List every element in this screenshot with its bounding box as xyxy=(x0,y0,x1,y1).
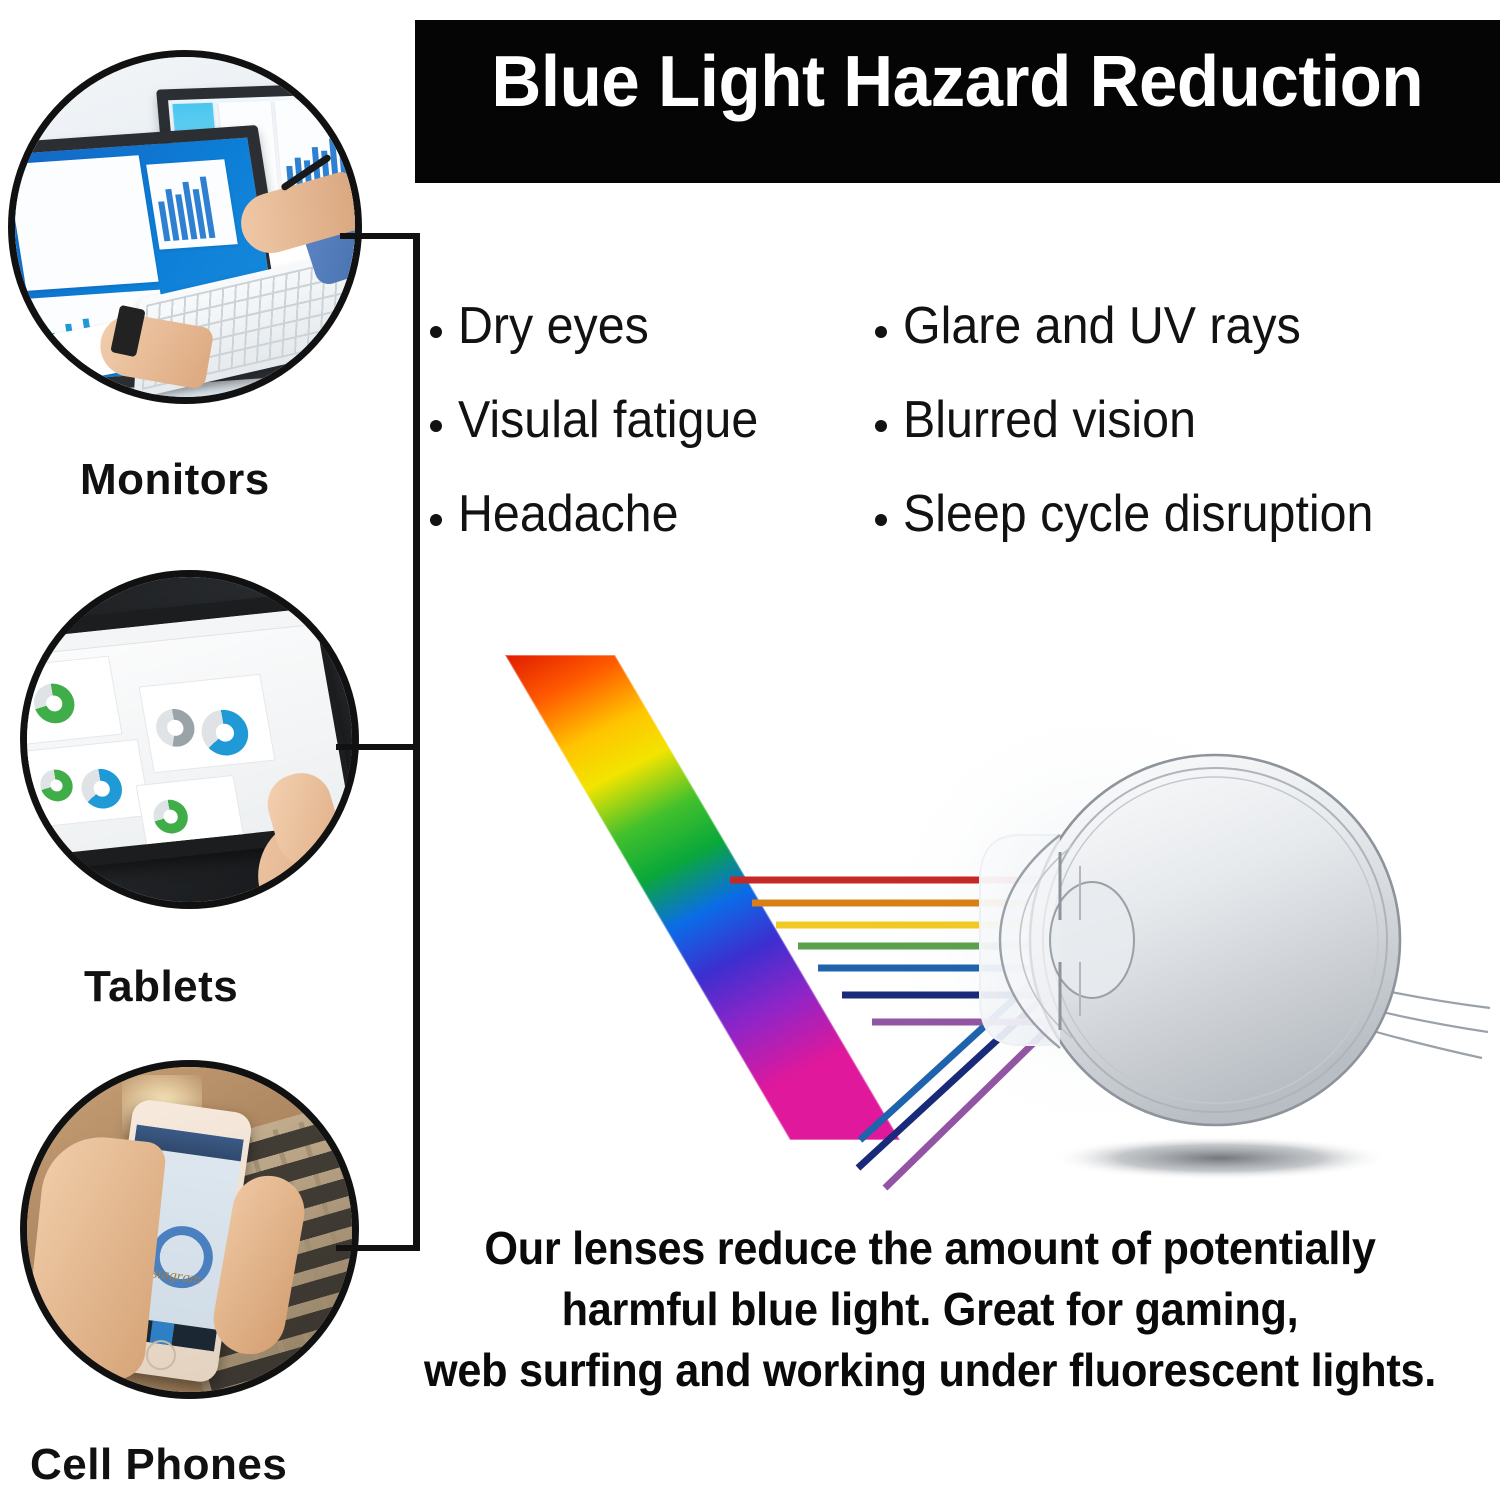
symptom-label: Glare and UV rays xyxy=(903,300,1301,352)
device-photo-cell-phones: Instagram xyxy=(20,1060,359,1399)
symptom-label: Blurred vision xyxy=(903,394,1196,446)
page-title: Blue Light Hazard Reduction xyxy=(492,46,1424,118)
monitors-photo-scene xyxy=(15,57,355,397)
visible-light-spectrum-beam xyxy=(505,655,900,1140)
blue-light-filter-diagram xyxy=(460,620,1500,1200)
title-banner: Blue Light Hazard Reduction xyxy=(415,20,1500,183)
symptom-label: Headache xyxy=(458,488,678,540)
symptom-item: Dry eyes xyxy=(430,300,880,352)
device-label-tablets: Tablets xyxy=(84,962,238,1012)
symptom-label: Sleep cycle disruption xyxy=(903,488,1373,540)
caption-line-2: harmful blue light. Great for gaming, xyxy=(394,1279,1466,1340)
symptom-item: Glare and UV rays xyxy=(875,300,1495,352)
symptom-item: Blurred vision xyxy=(875,394,1495,446)
bullet-dot-icon xyxy=(875,420,887,432)
symptom-label: Visulal fatigue xyxy=(458,394,758,446)
bullet-dot-icon xyxy=(875,514,887,526)
bracket-branch-tablets xyxy=(336,744,420,750)
device-label-cell-phones: Cell Phones xyxy=(30,1440,287,1490)
device-photo-tablets xyxy=(20,570,359,909)
tablets-photo-scene xyxy=(27,577,352,902)
caption-line-1: Our lenses reduce the amount of potentia… xyxy=(394,1218,1466,1279)
symptom-item: Visulal fatigue xyxy=(430,394,880,446)
symptom-item: Headache xyxy=(430,488,880,540)
bullet-dot-icon xyxy=(430,420,442,432)
symptom-column-left: Dry eyes Visulal fatigue Headache xyxy=(430,300,880,582)
device-photo-monitors xyxy=(8,50,362,404)
bullet-dot-icon xyxy=(875,326,887,338)
bottom-caption: Our lenses reduce the amount of potentia… xyxy=(360,1218,1500,1402)
symptom-item: Sleep cycle disruption xyxy=(875,488,1495,540)
hand-holding-phone xyxy=(23,1131,167,1382)
infographic-canvas: Blue Light Hazard Reduction xyxy=(0,0,1500,1500)
symptom-label: Dry eyes xyxy=(458,300,649,352)
bullet-dot-icon xyxy=(430,326,442,338)
device-label-monitors: Monitors xyxy=(80,455,270,505)
bullet-dot-icon xyxy=(430,514,442,526)
phone-photo-scene: Instagram xyxy=(27,1067,352,1392)
bracket-branch-monitors xyxy=(340,233,420,239)
bracket-vertical-line xyxy=(413,233,420,1251)
symptom-column-right: Glare and UV rays Blurred vision Sleep c… xyxy=(875,300,1495,582)
caption-line-3: web surfing and working under fluorescen… xyxy=(394,1340,1466,1401)
